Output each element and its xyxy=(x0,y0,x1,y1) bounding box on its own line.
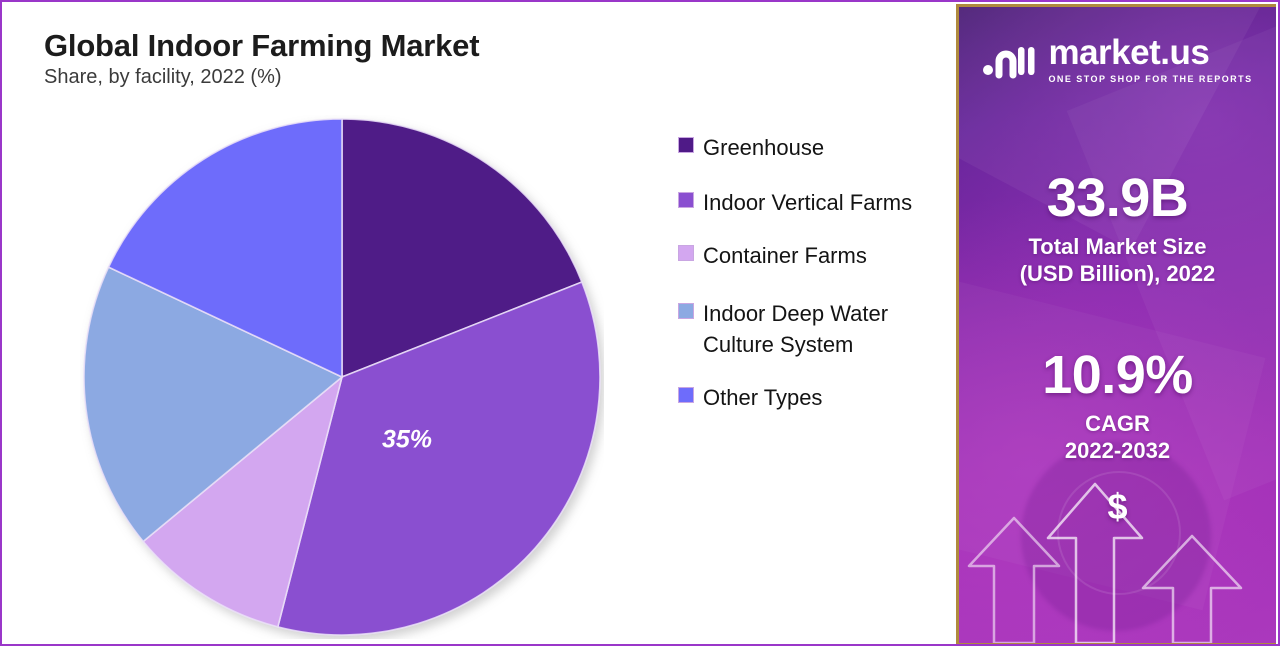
stat-value: 10.9% xyxy=(959,347,1276,404)
brand-tagline: ONE STOP SHOP FOR THE REPORTS xyxy=(1048,74,1252,84)
legend-item-label: Other Types xyxy=(703,382,822,413)
page-subtitle: Share, by facility, 2022 (%) xyxy=(44,66,282,89)
legend-swatch-icon xyxy=(678,303,694,319)
chart-legend: Greenhouse Indoor Vertical Farms Contain… xyxy=(678,132,946,413)
legend-swatch-icon xyxy=(678,192,694,208)
legend-item-label: Greenhouse xyxy=(703,132,824,163)
legend-item-greenhouse[interactable]: Greenhouse xyxy=(678,132,946,163)
stat-caption-line1: Total Market Size xyxy=(959,233,1276,261)
brand-logo[interactable]: market.us ONE STOP SHOP FOR THE REPORTS xyxy=(959,35,1276,84)
legend-swatch-icon xyxy=(678,387,694,403)
page-title: Global Indoor Farming Market xyxy=(44,28,479,64)
legend-swatch-icon xyxy=(678,245,694,261)
pie-chart: 35% xyxy=(80,115,604,639)
stat-caption-line1: CAGR xyxy=(959,410,1276,438)
legend-item-other-types[interactable]: Other Types xyxy=(678,382,946,413)
legend-item-container-farms[interactable]: Container Farms xyxy=(678,240,946,271)
infographic-root: Global Indoor Farming Market Share, by f… xyxy=(0,0,1280,646)
chart-panel: Global Indoor Farming Market Share, by f… xyxy=(2,2,958,644)
arrow-up-center xyxy=(1048,484,1142,643)
legend-item-label: Indoor Vertical Farms xyxy=(703,187,912,218)
arrow-up-left xyxy=(969,518,1059,643)
legend-item-indoor-vertical-farms[interactable]: Indoor Vertical Farms xyxy=(678,187,946,218)
brand-logo-text: market.us ONE STOP SHOP FOR THE REPORTS xyxy=(1048,35,1252,84)
stat-total-market-size: 33.9B Total Market Size (USD Billion), 2… xyxy=(959,170,1276,288)
brand-name: market.us xyxy=(1048,35,1209,70)
market-us-logo-icon xyxy=(982,39,1038,81)
pie-slice-label-indoor-vertical-farms: 35% xyxy=(382,426,432,454)
legend-item-label: Indoor Deep Water Culture System xyxy=(703,298,946,360)
stat-caption-line2: 2022-2032 xyxy=(959,437,1276,465)
arrow-up-right xyxy=(1143,536,1241,643)
stat-value: 33.9B xyxy=(959,170,1276,227)
stat-caption-line2: (USD Billion), 2022 xyxy=(959,260,1276,288)
brand-panel: market.us ONE STOP SHOP FOR THE REPORTS … xyxy=(956,4,1276,646)
legend-item-label: Container Farms xyxy=(703,240,867,271)
pie-slices-group xyxy=(84,119,600,635)
pie-chart-svg: 35% xyxy=(80,115,604,639)
legend-swatch-icon xyxy=(678,137,694,153)
legend-item-indoor-deep-water-culture-system[interactable]: Indoor Deep Water Culture System xyxy=(678,298,946,360)
growth-arrows-icon xyxy=(959,478,1276,643)
stat-cagr: 10.9% CAGR 2022-2032 xyxy=(959,347,1276,465)
